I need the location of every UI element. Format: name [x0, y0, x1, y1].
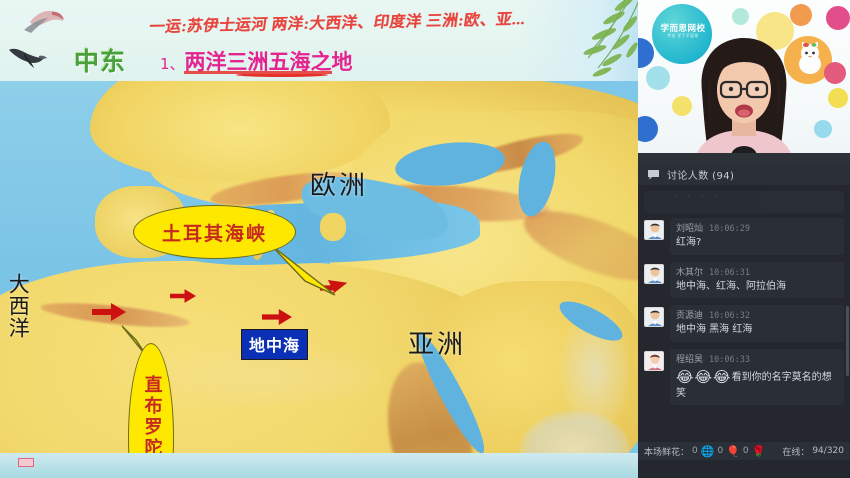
chat-message-time: 10:06:29	[709, 224, 750, 234]
chat-message-body: 刘昭灿 10:06:29 红海?	[670, 218, 844, 255]
willow-branch-decoration	[532, 0, 638, 81]
chat-message-username: 程绍昊	[676, 352, 703, 365]
red-arrow-icon	[262, 309, 292, 325]
online-status: 在线： 94/320	[782, 445, 844, 458]
chat-message-meta: 贡源迪 10:06:32	[676, 308, 838, 321]
map-label-mediterranean-box: 地中海	[241, 329, 308, 360]
avatar[interactable]	[644, 307, 664, 327]
online-label: 在线：	[782, 445, 809, 458]
decorative-blob	[646, 66, 670, 90]
chat-message-list[interactable]: · · · · 刘昭灿 10:06:29	[638, 186, 850, 441]
chat-bubble-icon	[647, 169, 660, 180]
online-value: 94/320	[812, 446, 844, 456]
chat-message-time: 10:06:33	[709, 355, 750, 365]
slide-footer	[0, 453, 638, 478]
decorative-blob	[828, 88, 848, 108]
decorative-blob	[790, 4, 812, 26]
map-label-mediterranean: 地中海	[249, 336, 300, 355]
chat-message-username: 贡源迪	[676, 308, 703, 321]
chat-message-body: 程绍昊 10:06:33 😂😂😂看到你的名字莫名的想笑	[670, 349, 844, 406]
slide-area: 一运:苏伊士运河 两洋:大西洋、印度洋 三洲:欧、亚... 中东 1、两洋三洲五…	[0, 0, 638, 478]
gift-balloon-icon[interactable]: 🎈	[726, 446, 740, 457]
chat-header-title: 讨论人数 (94)	[667, 167, 734, 182]
chat-message-partial: · · · ·	[644, 191, 844, 213]
swallow-bird-icon	[6, 44, 48, 70]
teacher-video-feed[interactable]: 学而思网校 专业 学了不容易	[638, 0, 850, 163]
gift-rose-icon[interactable]: 🌹	[752, 446, 766, 457]
red-arrow-icon	[92, 303, 126, 321]
greece-landmass	[320, 213, 346, 241]
video-bottom-bar	[638, 153, 850, 163]
red-arrow-icon	[170, 289, 196, 303]
decorative-blob	[826, 6, 850, 30]
chat-message-username: 木其尔	[676, 265, 703, 278]
callout-turkish-straits-label: 土耳其海峡	[162, 219, 267, 246]
flowers-label: 本场鲜花：	[644, 445, 689, 458]
chat-message-meta: 程绍昊 10:06:33	[676, 352, 838, 365]
chat-message-text: 😂😂😂看到你的名字莫名的想笑	[676, 367, 838, 401]
decorative-blob	[814, 120, 832, 138]
laughing-emoji-icon: 😂😂😂	[676, 368, 732, 386]
gift-count-1: 0	[692, 446, 698, 456]
map-label-europe: 欧洲	[310, 165, 368, 202]
callout-turkish-straits: 土耳其海峡	[133, 205, 296, 259]
footer-chip	[18, 458, 34, 467]
chat-message-time: 10:06:32	[709, 311, 750, 321]
chat-message-body: 木其尔 10:06:31 地中海、红海、阿拉伯海	[670, 262, 844, 299]
section-underline-emphasis	[236, 73, 328, 77]
chat-message: 贡源迪 10:06:32 地中海 黑海 红海	[644, 305, 844, 342]
chat-message: 刘昭灿 10:06:29 红海?	[644, 218, 844, 255]
avatar[interactable]	[644, 264, 664, 284]
lesson-player-window: 一运:苏伊士运河 两洋:大西洋、印度洋 三洲:欧、亚... 中东 1、两洋三洲五…	[0, 0, 850, 478]
chat-message-meta: 刘昭灿 10:06:29	[676, 221, 838, 234]
chat-message-body: 贡源迪 10:06:32 地中海 黑海 红海	[670, 305, 844, 342]
teacher-avatar	[684, 32, 804, 163]
gift-count-2: 0	[717, 446, 723, 456]
chat-message-text: 红海?	[676, 236, 838, 250]
handwritten-annotation: 一运:苏伊士运河 两洋:大西洋、印度洋 三洲:欧、亚...	[148, 7, 527, 37]
chat-message-truncated-text: · · · ·	[644, 191, 844, 201]
topic-title: 中东	[74, 42, 126, 78]
decorative-blob	[732, 8, 749, 25]
map-label-atlantic-ocean: 大西洋	[5, 273, 31, 339]
chat-message: 木其尔 10:06:31 地中海、红海、阿拉伯海	[644, 262, 844, 299]
decorative-blob	[824, 62, 846, 84]
bottom-filler	[638, 460, 850, 478]
gift-count-3: 0	[743, 446, 749, 456]
chat-message-time: 10:06:31	[709, 268, 750, 278]
chat-message-meta: 木其尔 10:06:31	[676, 265, 838, 278]
slide-header: 一运:苏伊士运河 两洋:大西洋、印度洋 三洲:欧、亚... 中东 1、两洋三洲五…	[0, 0, 638, 81]
callout-tail-turkish-straits	[265, 241, 345, 303]
callout-gibraltar-label: 直布罗陀海峡	[142, 375, 161, 453]
chat-scrollbar[interactable]	[846, 306, 849, 376]
map-image: 土耳其海峡 直布罗陀海峡 欧洲 亚洲 大西洋 地中海	[0, 81, 638, 453]
swallow-bird-icon	[22, 6, 68, 38]
right-panel: 学而思网校 专业 学了不容易	[638, 0, 850, 478]
chat-message-text: 地中海、红海、阿拉伯海	[676, 280, 838, 294]
section-number: 1、	[160, 55, 185, 73]
status-bar: 本场鲜花： 0 🌐 0 🎈 0 🌹 在线： 94/320	[638, 441, 850, 460]
chat-message: 程绍昊 10:06:33 😂😂😂看到你的名字莫名的想笑	[644, 349, 844, 406]
map-label-asia: 亚洲	[408, 324, 466, 361]
gift-globe-icon[interactable]: 🌐	[701, 446, 715, 457]
chat-message-username: 刘昭灿	[676, 221, 703, 234]
chat-message-text: 地中海 黑海 红海	[676, 323, 838, 337]
avatar[interactable]	[644, 220, 664, 240]
avatar[interactable]	[644, 351, 664, 371]
chat-header: 讨论人数 (94)	[638, 163, 850, 186]
